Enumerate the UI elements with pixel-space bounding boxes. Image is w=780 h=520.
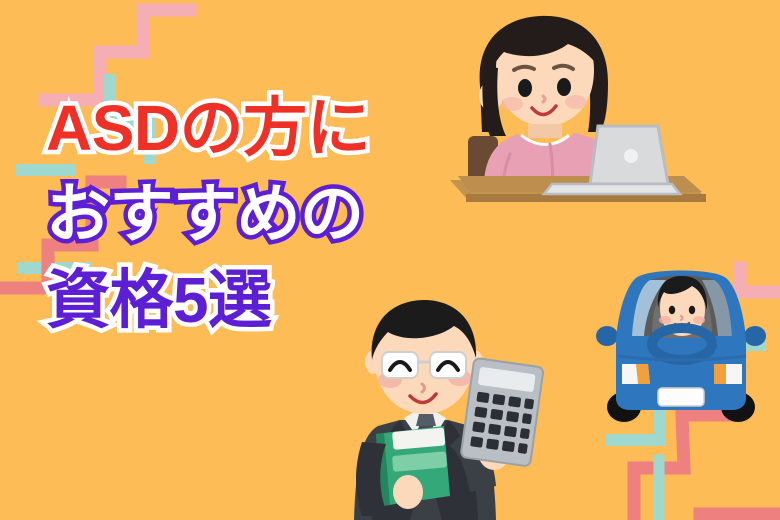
left-eye — [518, 79, 532, 97]
headline-line-3: 資格5選 — [46, 268, 476, 332]
right-mirror — [744, 326, 766, 346]
right-lens — [430, 352, 466, 378]
left-lens — [382, 352, 418, 378]
headline-line-1: ASDの方に — [46, 96, 476, 160]
left-ear — [365, 350, 383, 374]
laptop-base — [544, 184, 680, 194]
driver-right-cheek — [693, 316, 705, 324]
calculator — [460, 358, 543, 467]
laptop-logo — [624, 149, 638, 163]
woman-at-laptop-illustration — [440, 8, 710, 213]
car-illustration — [592, 252, 772, 432]
neck — [528, 124, 562, 138]
left-cheek — [501, 97, 523, 111]
right-cheek — [565, 95, 587, 109]
right-indicator — [714, 364, 726, 384]
left-indicator — [636, 364, 650, 384]
headline-line-2: おすすめの — [46, 182, 476, 246]
left-mirror — [596, 326, 618, 346]
driver-left-cheek — [659, 316, 671, 324]
tie-knot — [416, 414, 436, 426]
top-left-pink-stair-deco — [45, 10, 190, 100]
driver-right-eye — [689, 306, 695, 314]
thumbnail-canvas: ASDの方に おすすめの 資格5選 — [0, 0, 780, 520]
license-plate — [658, 388, 704, 406]
left-hand — [393, 475, 423, 509]
headline: ASDの方に おすすめの 資格5選 — [46, 96, 476, 332]
driver-left-eye — [669, 306, 675, 314]
right-eye — [557, 78, 571, 96]
businessman-illustration — [348, 300, 563, 520]
